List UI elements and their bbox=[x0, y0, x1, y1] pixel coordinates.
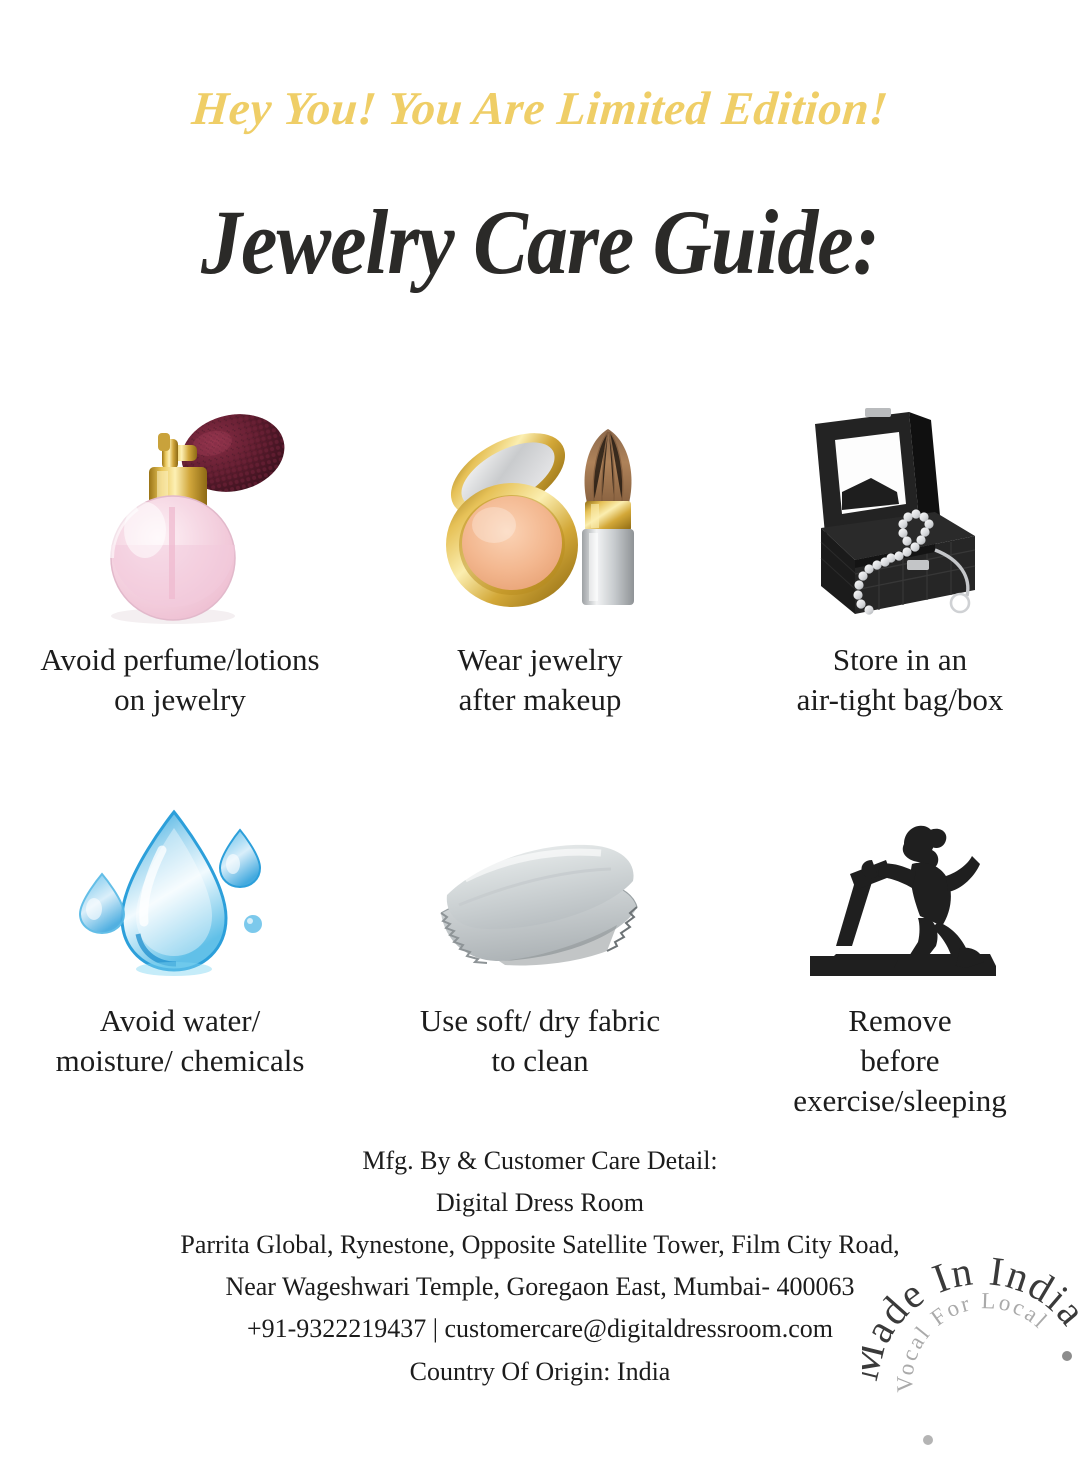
tips-row-1: Avoid perfume/lotions on jewelry bbox=[0, 380, 1080, 719]
footer-line-mfg: Mfg. By & Customer Care Detail: bbox=[0, 1140, 1080, 1182]
badge-dot-left bbox=[923, 1435, 933, 1445]
tip-card-storage: Store in an air-tight bag/box bbox=[720, 380, 1080, 719]
perfume-bottle-icon bbox=[65, 380, 295, 630]
tip-caption: Avoid water/ moisture/ chemicals bbox=[56, 1001, 305, 1080]
page-title: Jewelry Care Guide: bbox=[0, 190, 1080, 295]
tip-caption: Remove before exercise/sleeping bbox=[793, 1001, 1006, 1120]
jewelry-box-icon bbox=[785, 380, 1015, 630]
care-guide-poster: Hey You! You Are Limited Edition! Jewelr… bbox=[0, 0, 1080, 1440]
tips-row-2: Avoid water/ moisture/ chemicals bbox=[0, 791, 1080, 1120]
tip-card-cloth: Use soft/ dry fabric to clean bbox=[360, 791, 720, 1120]
badge-dot-right bbox=[1062, 1351, 1072, 1361]
tip-caption: Store in an air-tight bag/box bbox=[797, 640, 1004, 719]
tip-card-water: Avoid water/ moisture/ chemicals bbox=[0, 791, 360, 1120]
tip-caption: Avoid perfume/lotions on jewelry bbox=[40, 640, 319, 719]
tip-caption: Wear jewelry after makeup bbox=[457, 640, 622, 719]
tips-grid: Avoid perfume/lotions on jewelry bbox=[0, 380, 1080, 1120]
tip-card-makeup: Wear jewelry after makeup bbox=[360, 380, 720, 719]
cleaning-cloth-icon bbox=[425, 791, 655, 991]
footer-line-company: Digital Dress Room bbox=[0, 1182, 1080, 1224]
tip-card-exercise: Remove before exercise/sleeping bbox=[720, 791, 1080, 1120]
tip-caption: Use soft/ dry fabric to clean bbox=[420, 1001, 660, 1080]
treadmill-runner-icon bbox=[800, 791, 1000, 991]
water-droplet-icon bbox=[70, 791, 290, 991]
tip-card-perfume: Avoid perfume/lotions on jewelry bbox=[0, 380, 360, 719]
tagline: Hey You! You Are Limited Edition! bbox=[0, 82, 1080, 136]
makeup-compact-brush-icon bbox=[430, 380, 650, 630]
